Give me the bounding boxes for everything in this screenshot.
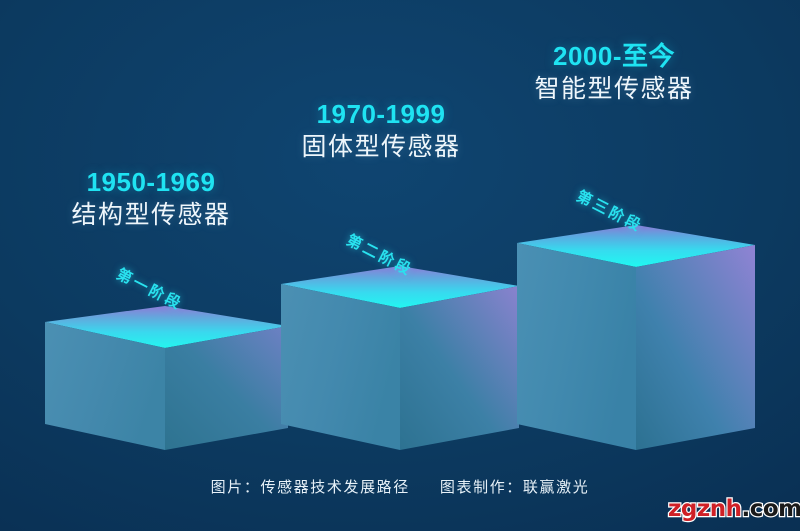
era-2-name: 固体型传感器 <box>266 133 496 161</box>
era-caption-2: 1970-1999 固体型传感器 <box>266 100 496 161</box>
footer-source-value: 传感器技术发展路径 <box>260 479 409 496</box>
footer-caption: 图片：传感器技术发展路径图表制作：联赢激光 <box>0 476 800 497</box>
watermark-name: zgznh <box>668 496 742 522</box>
era-1-years: 1950-1969 <box>36 168 266 197</box>
era-caption-3: 2000-至今 智能型传感器 <box>496 42 732 103</box>
watermark-tld: .com <box>742 496 800 522</box>
era-caption-1: 1950-1969 结构型传感器 <box>36 168 266 229</box>
era-1-name: 结构型传感器 <box>36 201 266 229</box>
footer-credit-value: 联赢激光 <box>523 479 589 496</box>
era-3-years: 2000-至今 <box>496 42 732 71</box>
footer-source-label: 图片： <box>211 479 261 496</box>
era-3-name: 智能型传感器 <box>496 75 732 103</box>
watermark: zgznh.com <box>668 498 800 521</box>
footer-credit-label: 图表制作： <box>440 479 523 496</box>
era-2-years: 1970-1999 <box>266 100 496 129</box>
infographic-canvas: 第一阶段 第二阶段 第三阶段 1950-1969 结构型传感器 1970-199… <box>0 0 800 531</box>
